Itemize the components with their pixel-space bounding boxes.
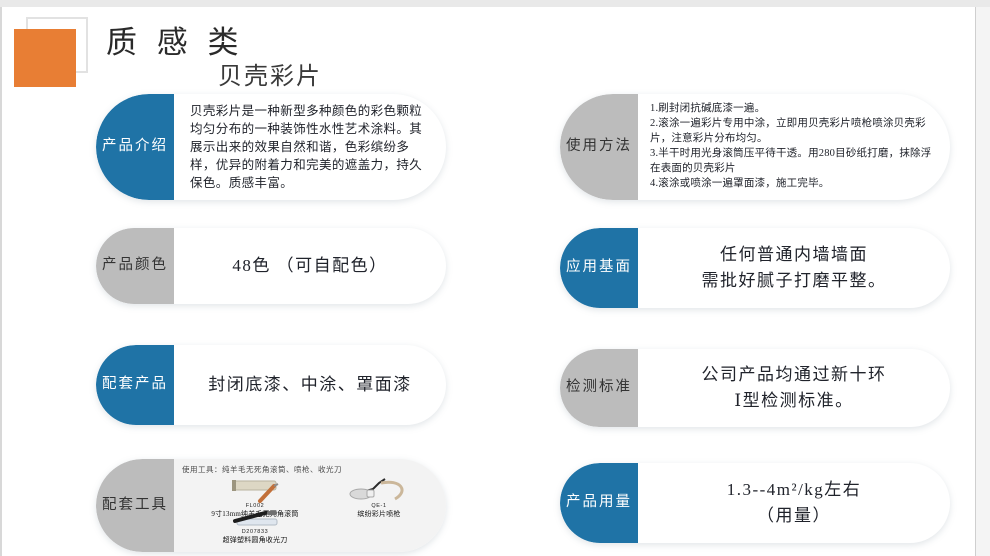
card-matching-tools[interactable]: 配套工具 使用工具：纯羊毛无死角滚筒、喷枪、收光刀 FL002 9寸13mm纯羊… — [96, 459, 446, 552]
trowel-icon — [180, 511, 330, 529]
testing-standard-line-2: Ⅰ型检测标准。 — [654, 388, 934, 414]
page-subtitle: 贝壳彩片 — [218, 56, 322, 91]
usage-step-1: 1.刷封闭抗碱底漆一遍。 — [650, 102, 938, 117]
tool-name-2: 超弹塑料圆角收光刀 — [180, 535, 330, 545]
tools-photo-caption: 使用工具：纯羊毛无死角滚筒、喷枪、收光刀 — [182, 464, 342, 475]
card-label-application-base: 应用基面 — [560, 228, 638, 308]
testing-standard-line-1: 公司产品均通过新十环 — [654, 362, 934, 388]
product-color-value: 48色 （可自配色） — [190, 253, 430, 279]
card-body-product-usage: 1.3--4m²/kg左右 （用量） — [638, 463, 950, 543]
card-body-product-color: 48色 （可自配色） — [174, 228, 446, 304]
card-body-testing-standard: 公司产品均通过新十环 Ⅰ型检测标准。 — [638, 349, 950, 427]
left-edge-rule — [0, 7, 2, 556]
card-body-usage-method: 1.刷封闭抗碱底漆一遍。 2.滚涂一遍彩片专用中涂，立即用贝壳彩片喷枪喷涂贝壳彩… — [638, 94, 950, 200]
card-label-product-color: 产品颜色 — [96, 228, 174, 304]
product-intro-text: 贝壳彩片是一种新型多种颜色的彩色颗粒均匀分布的一种装饰性水性艺术涂料。其展示出来… — [190, 102, 430, 193]
card-product-intro[interactable]: 产品介绍 贝壳彩片是一种新型多种颜色的彩色颗粒均匀分布的一种装饰性水性艺术涂料。… — [96, 94, 446, 200]
spray-gun-icon — [314, 477, 444, 503]
card-body-application-base: 任何普通内墙墙面 需批好腻子打磨平整。 — [638, 228, 950, 308]
card-label-testing-standard: 检测标准 — [560, 349, 638, 427]
product-usage-line-2: （用量） — [654, 503, 934, 529]
usage-step-4: 4.滚涂或喷涂一遍罩面漆，施工完毕。 — [650, 177, 938, 192]
card-product-color[interactable]: 产品颜色 48色 （可自配色） — [96, 228, 446, 304]
right-margin-fill — [976, 7, 990, 556]
logo-mark — [14, 17, 92, 87]
matching-tools-photo: 使用工具：纯羊毛无死角滚筒、喷枪、收光刀 FL002 9寸13mm纯羊毛无死角滚… — [174, 459, 446, 552]
usage-step-2: 2.滚涂一遍彩片专用中涂，立即用贝壳彩片喷枪喷涂贝壳彩片，注意彩片分布均匀。 — [650, 117, 938, 147]
usage-step-3: 3.半干时用光身滚筒压平待干透。用280目砂纸打磨，抹除浮在表面的贝壳彩片 — [650, 147, 938, 177]
card-label-product-intro: 产品介绍 — [96, 94, 174, 200]
matching-products-value: 封闭底漆、中涂、罩面漆 — [190, 372, 430, 398]
application-base-line-2: 需批好腻子打磨平整。 — [654, 268, 934, 294]
top-strip — [0, 0, 990, 7]
card-label-usage-method: 使用方法 — [560, 94, 638, 200]
card-body-product-intro: 贝壳彩片是一种新型多种颜色的彩色颗粒均匀分布的一种装饰性水性艺术涂料。其展示出来… — [174, 94, 446, 200]
tool-item-spray-gun: QE-1 缤纷彩片喷枪 — [314, 477, 444, 519]
card-application-base[interactable]: 应用基面 任何普通内墙墙面 需批好腻子打磨平整。 — [560, 228, 950, 308]
tool-item-trowel: D207833 超弹塑料圆角收光刀 — [180, 511, 330, 545]
card-matching-products[interactable]: 配套产品 封闭底漆、中涂、罩面漆 — [96, 345, 446, 425]
card-label-matching-tools: 配套工具 — [96, 459, 174, 552]
application-base-line-1: 任何普通内墙墙面 — [654, 242, 934, 268]
tool-name-1: 缤纷彩片喷枪 — [314, 509, 444, 519]
product-usage-line-1: 1.3--4m²/kg左右 — [654, 477, 934, 503]
roller-icon — [180, 477, 330, 503]
logo-orange-square — [14, 29, 76, 87]
card-label-product-usage: 产品用量 — [560, 463, 638, 543]
right-edge-rule — [975, 7, 976, 556]
usage-method-steps: 1.刷封闭抗碱底漆一遍。 2.滚涂一遍彩片专用中涂，立即用贝壳彩片喷枪喷涂贝壳彩… — [650, 102, 938, 191]
card-testing-standard[interactable]: 检测标准 公司产品均通过新十环 Ⅰ型检测标准。 — [560, 349, 950, 427]
slide-canvas: 质 感 类 贝壳彩片 产品介绍 贝壳彩片是一种新型多种颜色的彩色颗粒均匀分布的一… — [0, 0, 990, 556]
card-body-matching-products: 封闭底漆、中涂、罩面漆 — [174, 345, 446, 425]
card-label-matching-products: 配套产品 — [96, 345, 174, 425]
card-usage-method[interactable]: 使用方法 1.刷封闭抗碱底漆一遍。 2.滚涂一遍彩片专用中涂，立即用贝壳彩片喷枪… — [560, 94, 950, 200]
card-product-usage[interactable]: 产品用量 1.3--4m²/kg左右 （用量） — [560, 463, 950, 543]
